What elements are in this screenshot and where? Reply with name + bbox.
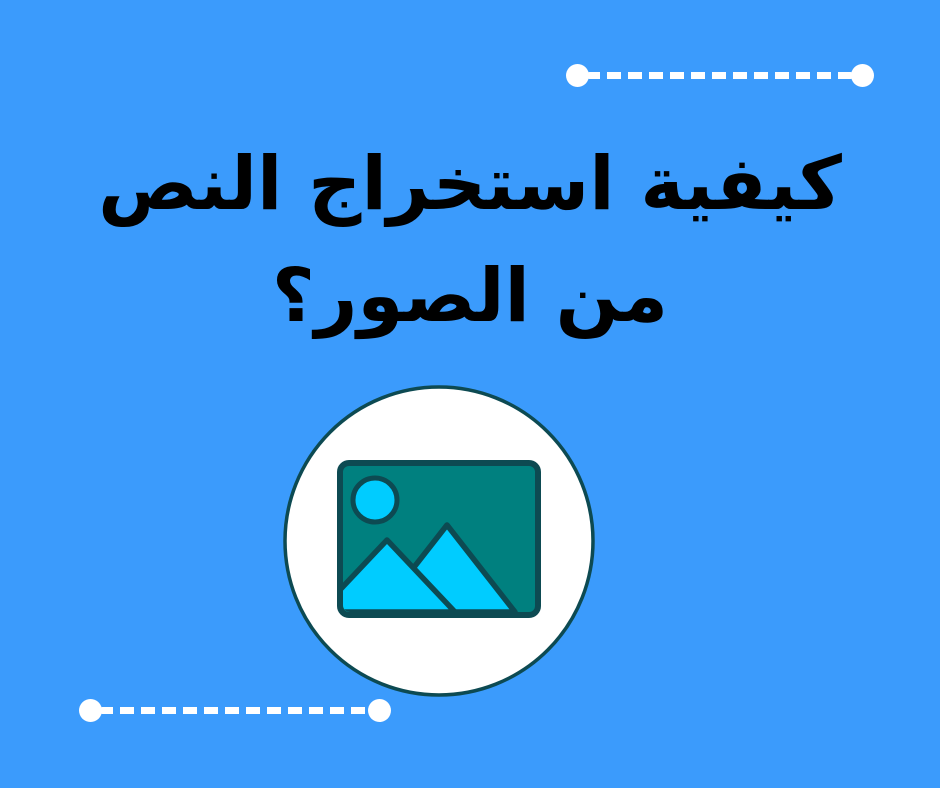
- rule-node-right-icon: [851, 64, 874, 87]
- rule-dashes-icon: [99, 707, 371, 714]
- image-emblem: [283, 385, 595, 697]
- page-title: كيفية استخراج النص من الصور؟: [0, 128, 940, 352]
- poster-canvas: كيفية استخراج النص من الصور؟: [0, 0, 940, 788]
- rule-dashes-icon: [586, 72, 854, 79]
- dashed-rule-bottom: [79, 698, 391, 722]
- sun-icon: [353, 478, 397, 522]
- rule-node-right-icon: [368, 699, 391, 722]
- dashed-rule-top: [566, 63, 874, 87]
- image-placeholder-icon: [283, 385, 595, 697]
- page-title-line-1: كيفية استخراج النص: [0, 128, 940, 240]
- page-title-line-2: من الصور؟: [0, 240, 940, 352]
